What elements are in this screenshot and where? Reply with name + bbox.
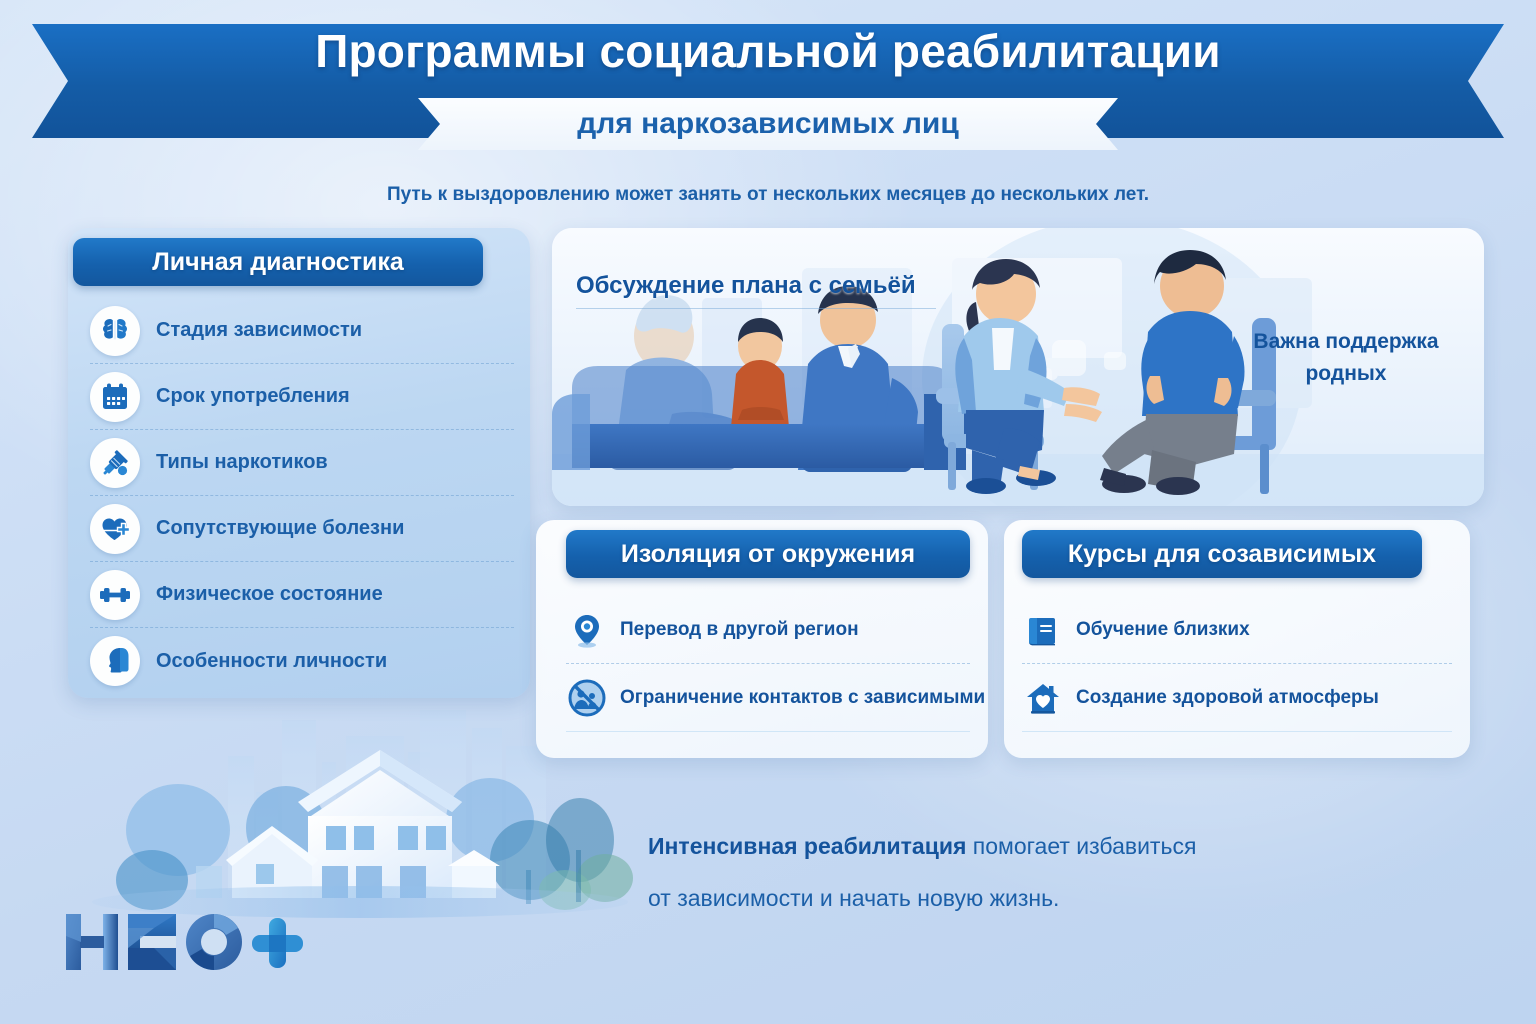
list-item[interactable]: Создание здоровой атмосферы [1022, 664, 1452, 732]
head-profile-icon [90, 636, 140, 686]
list-item[interactable]: Типы наркотиков [90, 430, 514, 496]
list-item[interactable]: Ограничение контактов с зависимыми [566, 664, 970, 732]
home-heart-icon [1022, 677, 1064, 719]
list-item-label: Сопутствующие болезни [156, 517, 404, 540]
brand-logo [62, 906, 312, 980]
list-item[interactable]: Срок употребления [90, 364, 514, 430]
dumbbell-icon [90, 570, 140, 620]
list-item-label: Создание здоровой атмосферы [1076, 687, 1379, 709]
location-pin-icon [566, 609, 608, 651]
logo-letter-n [66, 914, 118, 970]
heart-plus-icon [90, 504, 140, 554]
list-item-label: Стадия зависимости [156, 319, 362, 342]
footer-rest: помогает избавиться [966, 833, 1196, 859]
codependent-courses-list: Обучение близких Создание здоровой атмос… [1022, 596, 1452, 732]
isolation-title: Изоляция от окружения [566, 530, 970, 578]
illustration-title: Обсуждение плана с семьёй [576, 272, 916, 300]
illustration-title-rule [576, 308, 936, 309]
calendar-icon [90, 372, 140, 422]
list-item-label: Типы наркотиков [156, 451, 328, 474]
list-item-label: Обучение близких [1076, 619, 1250, 641]
list-item-label: Физическое состояние [156, 583, 383, 606]
list-item-label: Перевод в другой регион [620, 619, 859, 641]
intro-text: Путь к выздоровлению может занять от нес… [0, 184, 1536, 206]
diagnostics-list: Стадия зависимости [90, 298, 514, 694]
isolation-list: Перевод в другой регион Ограничение конт… [566, 596, 970, 732]
list-item[interactable]: Сопутствующие болезни [90, 496, 514, 562]
list-item-label: Срок употребления [156, 385, 350, 408]
brain-icon [90, 306, 140, 356]
page-title: Программы социальной реабилитации [0, 24, 1536, 78]
list-item[interactable]: Обучение близких [1022, 596, 1452, 664]
footer-line2: от зависимости и начать новую жизнь. [648, 885, 1059, 911]
list-item[interactable]: Физическое состояние [90, 562, 514, 628]
list-item[interactable]: Стадия зависимости [90, 298, 514, 364]
list-item[interactable]: Особенности личности [90, 628, 514, 694]
list-item-label: Особенности личности [156, 650, 387, 673]
infographic-poster: Программы социальной реабилитации для на… [0, 0, 1536, 1024]
book-icon [1022, 609, 1064, 651]
logo-plus [252, 918, 303, 968]
footer-strong: Интенсивная реабилитация [648, 833, 966, 859]
footer-statement: Интенсивная реабилитация помогает избави… [648, 820, 1348, 924]
no-contacts-icon [566, 677, 608, 719]
list-item-label: Ограничение контактов с зависимыми [620, 687, 985, 709]
logo-letter-e [128, 914, 176, 970]
logo-letter-o [186, 914, 242, 970]
illustration-caption: Важна поддержка родных [1222, 326, 1470, 390]
codependent-courses-title: Курсы для созависимых [1022, 530, 1422, 578]
syringe-icon [90, 438, 140, 488]
diagnostics-title: Личная диагностика [73, 238, 483, 286]
list-item[interactable]: Перевод в другой регион [566, 596, 970, 664]
page-subtitle: для наркозависимых лиц [418, 98, 1118, 150]
